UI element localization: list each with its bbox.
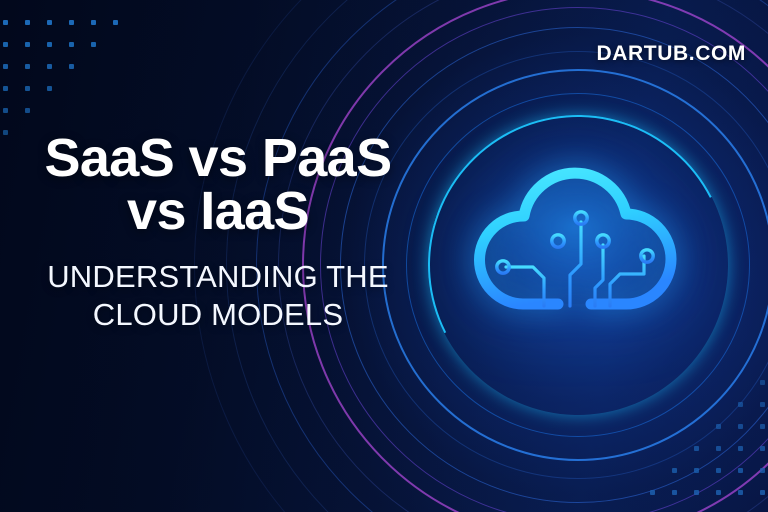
decor-dot bbox=[25, 86, 30, 91]
decor-dot bbox=[650, 490, 655, 495]
decor-dot bbox=[672, 468, 677, 473]
decor-dot bbox=[760, 468, 765, 473]
decor-dot bbox=[25, 64, 30, 69]
decor-dot bbox=[738, 446, 743, 451]
title-line-2: vs IaaS bbox=[18, 185, 418, 238]
page-title: SaaS vs PaaS vs IaaS bbox=[18, 132, 418, 238]
decor-dot bbox=[3, 20, 8, 25]
decor-dot bbox=[694, 468, 699, 473]
decor-dot bbox=[672, 490, 677, 495]
decor-dot bbox=[760, 424, 765, 429]
decor-dot bbox=[738, 424, 743, 429]
decor-dot bbox=[716, 490, 721, 495]
decor-dot bbox=[91, 20, 96, 25]
decor-dot bbox=[760, 380, 765, 385]
decor-dot bbox=[91, 42, 96, 47]
decor-dot bbox=[25, 108, 30, 113]
title-line-1: SaaS vs PaaS bbox=[18, 132, 418, 185]
decor-dot bbox=[694, 446, 699, 451]
headline-block: SaaS vs PaaS vs IaaS UNDERSTANDING THE C… bbox=[18, 132, 418, 334]
site-logo[interactable]: DARTUB.COM bbox=[597, 42, 746, 66]
subtitle-line-2: CLOUD MODELS bbox=[18, 296, 418, 334]
decor-dot bbox=[3, 42, 8, 47]
decor-dot bbox=[760, 402, 765, 407]
decor-dot bbox=[3, 108, 8, 113]
decor-dot bbox=[25, 20, 30, 25]
cloud-models-banner: DARTUB.COM bbox=[0, 0, 768, 512]
decor-dot bbox=[47, 42, 52, 47]
decor-dot bbox=[3, 86, 8, 91]
decor-dot bbox=[738, 468, 743, 473]
decor-dot bbox=[738, 490, 743, 495]
decor-dot bbox=[47, 64, 52, 69]
decor-dot bbox=[69, 64, 74, 69]
decor-dot bbox=[47, 20, 52, 25]
decor-dot bbox=[760, 446, 765, 451]
decor-dot bbox=[716, 424, 721, 429]
page-subtitle: UNDERSTANDING THE CLOUD MODELS bbox=[18, 258, 418, 334]
decor-dot bbox=[3, 64, 8, 69]
decor-dot bbox=[716, 446, 721, 451]
cloud-circuit-icon bbox=[448, 128, 718, 378]
decor-dot bbox=[69, 20, 74, 25]
decor-dot bbox=[694, 490, 699, 495]
subtitle-line-1: UNDERSTANDING THE bbox=[18, 258, 418, 296]
decor-dot bbox=[47, 86, 52, 91]
decor-dot bbox=[25, 42, 30, 47]
decor-dot bbox=[716, 468, 721, 473]
decor-dot bbox=[113, 20, 118, 25]
decor-dot bbox=[760, 490, 765, 495]
decor-dot bbox=[738, 402, 743, 407]
decor-dot bbox=[3, 130, 8, 135]
decor-dot bbox=[69, 42, 74, 47]
